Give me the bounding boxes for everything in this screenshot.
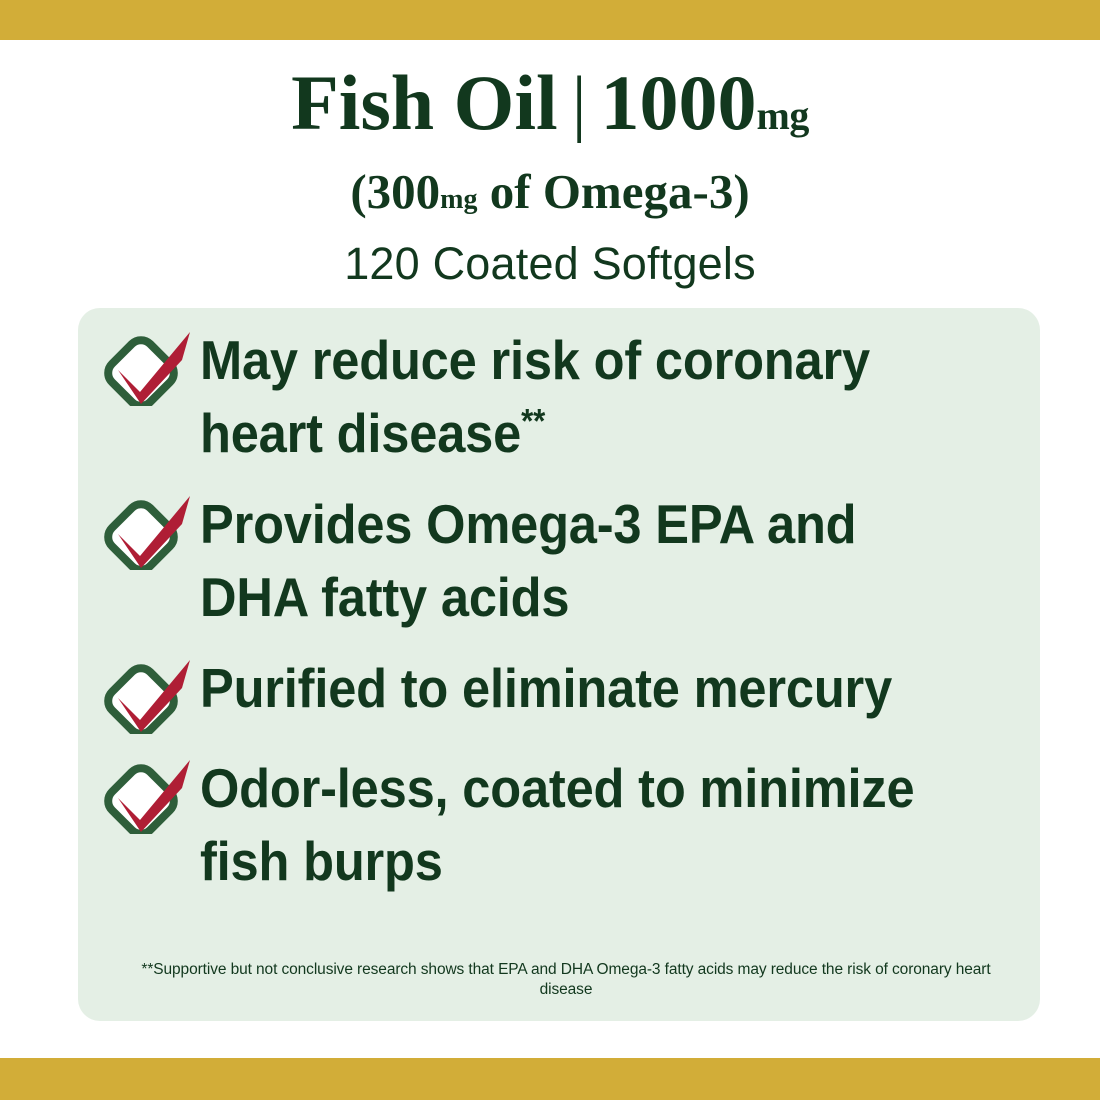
benefit-label: Odor-less, coated to minimize fish burps — [200, 757, 914, 892]
list-item: May reduce risk of coronary heart diseas… — [78, 322, 1040, 470]
list-item: Purified to eliminate mercury — [78, 650, 1040, 734]
subtitle-rest: of Omega-3) — [478, 164, 750, 219]
title-separator: | — [558, 62, 601, 144]
benefits-list: May reduce risk of coronary heart diseas… — [78, 322, 1040, 914]
benefit-text: Provides Omega-3 EPA and DHA fatty acids — [200, 486, 956, 634]
disclaimer-footnote: **Supportive but not conclusive research… — [120, 960, 1012, 1000]
strength-unit: mg — [757, 93, 809, 138]
softgel-count: 120 Coated Softgels — [0, 237, 1100, 291]
product-feature-panel: Fish Oil|1000mg (300mg of Omega-3) 120 C… — [0, 0, 1100, 1100]
subtitle-open-paren: ( — [350, 164, 366, 219]
strength-value: 1000 — [601, 59, 757, 146]
omega-subtitle-line: (300mg of Omega-3) — [0, 163, 1100, 229]
check-diamond-icon — [100, 756, 196, 834]
benefit-text: May reduce risk of coronary heart diseas… — [200, 322, 956, 470]
top-gold-bar — [0, 0, 1100, 40]
benefit-label: May reduce risk of coronary heart diseas… — [200, 329, 870, 464]
subtitle-unit: mg — [440, 184, 477, 215]
benefits-panel: May reduce risk of coronary heart diseas… — [78, 308, 1040, 1021]
benefit-text: Purified to eliminate mercury — [200, 650, 956, 725]
product-title-line: Fish Oil|1000mg — [0, 62, 1100, 157]
list-item: Odor-less, coated to minimize fish burps — [78, 750, 1040, 898]
bottom-gold-bar — [0, 1058, 1100, 1100]
benefit-text: Odor-less, coated to minimize fish burps — [200, 750, 956, 898]
check-diamond-icon — [100, 656, 196, 734]
benefit-label: Provides Omega-3 EPA and DHA fatty acids — [200, 493, 856, 628]
subtitle-value: 300 — [367, 164, 441, 219]
product-name: Fish Oil — [291, 59, 558, 146]
check-diamond-icon — [100, 492, 196, 570]
check-diamond-icon — [100, 328, 196, 406]
list-item: Provides Omega-3 EPA and DHA fatty acids — [78, 486, 1040, 634]
benefit-label: Purified to eliminate mercury — [200, 657, 892, 719]
benefit-footnote-marker: ** — [521, 403, 545, 441]
product-header: Fish Oil|1000mg (300mg of Omega-3) 120 C… — [0, 62, 1100, 291]
